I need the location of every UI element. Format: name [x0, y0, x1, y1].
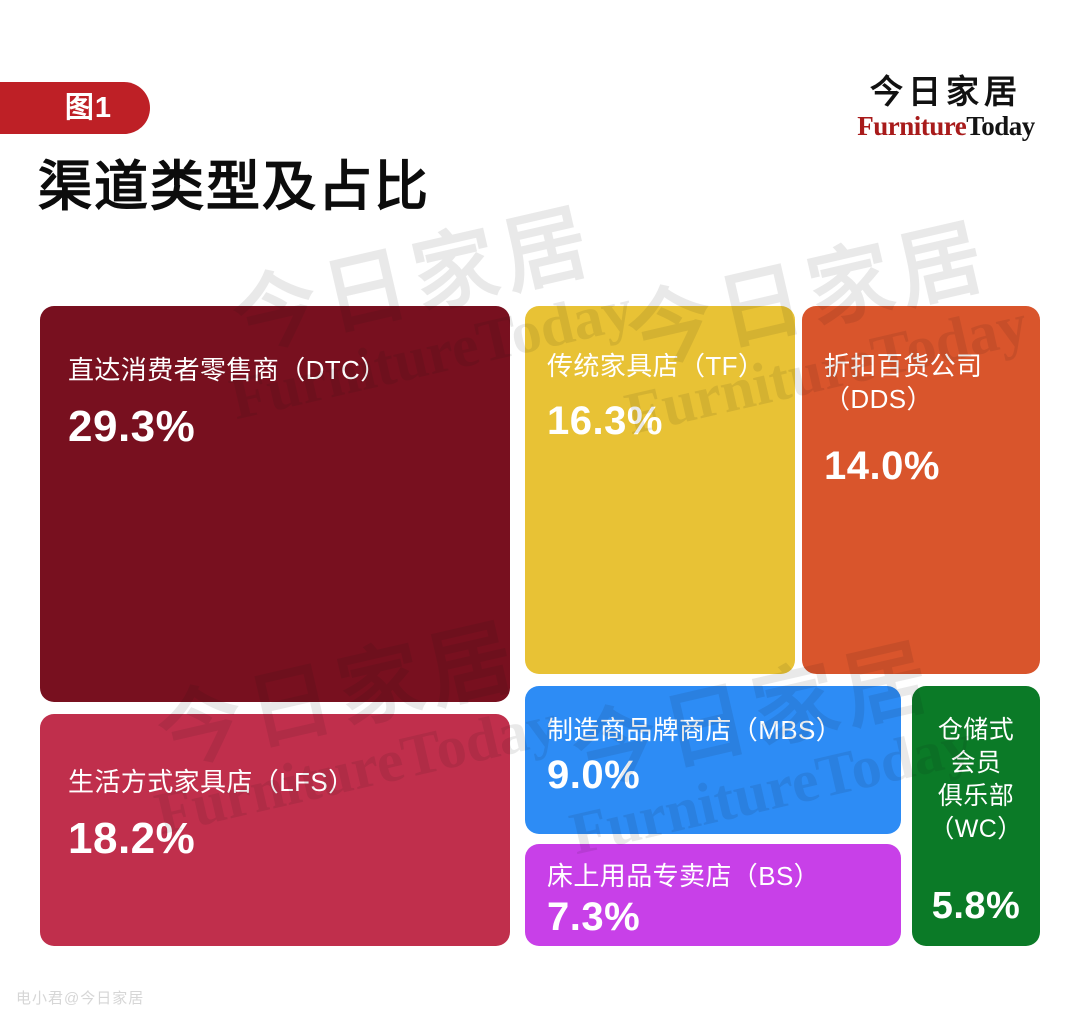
- tile-label-lfs: 生活方式家具店（LFS）: [68, 766, 482, 799]
- tile-label-line: 制造商品牌商店（MBS）: [547, 714, 879, 747]
- treemap-chart: 直达消费者零售商（DTC） 29.3% 生活方式家具店（LFS） 18.2% 传…: [40, 306, 1040, 946]
- tile-value-lfs: 18.2%: [68, 815, 482, 863]
- tile-label-dds: 折扣百货公司 （DDS）: [824, 350, 1018, 416]
- treemap-tile-wc[interactable]: 仓储式 会员 俱乐部 （WC） 5.8%: [912, 686, 1040, 946]
- tile-content-lfs: 生活方式家具店（LFS） 18.2%: [40, 766, 510, 863]
- brand-logo-today: Today: [966, 111, 1035, 141]
- tile-label-line: （DDS）: [824, 383, 1018, 416]
- tile-label-line: 床上用品专卖店（BS）: [547, 860, 879, 893]
- figure-badge-label: 图1: [65, 94, 112, 123]
- header: 图1 今日家居 FurnitureToday 渠道类型及占比: [0, 0, 1080, 270]
- tile-label-dtc: 直达消费者零售商（DTC）: [68, 354, 482, 387]
- treemap-tile-mbs[interactable]: 制造商品牌商店（MBS） 9.0%: [525, 686, 901, 834]
- tile-value-mbs: 9.0%: [547, 753, 879, 797]
- tile-content-mbs: 制造商品牌商店（MBS） 9.0%: [525, 714, 901, 797]
- treemap-tile-bs[interactable]: 床上用品专卖店（BS） 7.3%: [525, 844, 901, 946]
- tile-label-line: 传统家具店（TF）: [547, 350, 773, 383]
- tile-label-line: 会员: [920, 747, 1032, 780]
- tile-label-line: （WC）: [920, 813, 1032, 846]
- tile-label-tf: 传统家具店（TF）: [547, 350, 773, 383]
- tile-label-line: 直达消费者零售商（DTC）: [68, 354, 482, 387]
- tile-value-dtc: 29.3%: [68, 403, 482, 451]
- brand-logo: 今日家居 FurnitureToday: [846, 74, 1046, 140]
- treemap-tile-dds[interactable]: 折扣百货公司 （DDS） 14.0%: [802, 306, 1040, 674]
- brand-logo-chinese: 今日家居: [846, 74, 1046, 111]
- tile-value-wc: 5.8%: [920, 886, 1032, 928]
- tile-content-bs: 床上用品专卖店（BS） 7.3%: [525, 860, 901, 939]
- brand-logo-furniture: Furniture: [857, 111, 966, 141]
- treemap-tile-dtc[interactable]: 直达消费者零售商（DTC） 29.3%: [40, 306, 510, 702]
- corner-watermark: 电小君@今日家居: [16, 987, 144, 1008]
- tile-content-tf: 传统家具店（TF） 16.3%: [525, 350, 795, 443]
- tile-label-line: 生活方式家具店（LFS）: [68, 766, 482, 799]
- figure-badge: 图1: [0, 82, 150, 134]
- tile-value-bs: 7.3%: [547, 895, 879, 939]
- tile-content-dtc: 直达消费者零售商（DTC） 29.3%: [40, 354, 510, 451]
- tile-content-wc: 仓储式 会员 俱乐部 （WC） 5.8%: [912, 714, 1040, 928]
- tile-label-line: 俱乐部: [920, 780, 1032, 813]
- brand-logo-english: FurnitureToday: [846, 112, 1046, 140]
- treemap-tile-lfs[interactable]: 生活方式家具店（LFS） 18.2%: [40, 714, 510, 946]
- tile-content-dds: 折扣百货公司 （DDS） 14.0%: [802, 350, 1040, 488]
- treemap-tile-tf[interactable]: 传统家具店（TF） 16.3%: [525, 306, 795, 674]
- page-title: 渠道类型及占比: [38, 160, 430, 214]
- tile-label-bs: 床上用品专卖店（BS）: [547, 860, 879, 893]
- tile-label-mbs: 制造商品牌商店（MBS）: [547, 714, 879, 747]
- tile-label-line: 折扣百货公司: [824, 350, 1018, 383]
- tile-value-dds: 14.0%: [824, 444, 1018, 488]
- tile-label-line: 仓储式: [920, 714, 1032, 747]
- tile-label-wc: 仓储式 会员 俱乐部 （WC）: [920, 714, 1032, 846]
- tile-value-tf: 16.3%: [547, 399, 773, 443]
